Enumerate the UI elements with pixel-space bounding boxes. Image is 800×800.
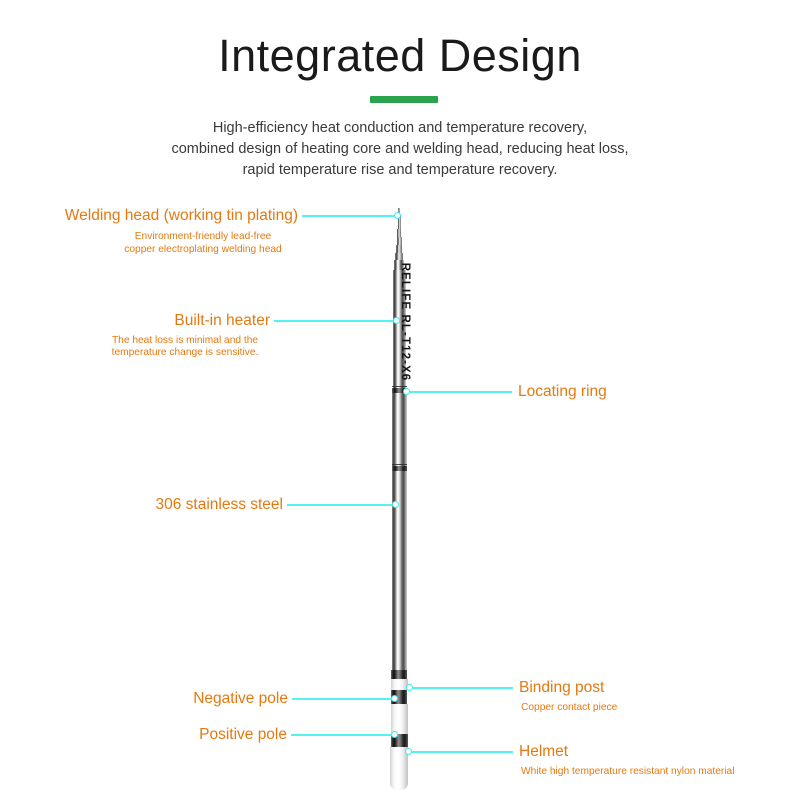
subtitle-line-2: combined design of heating core and weld… — [100, 139, 700, 160]
callout-negative-pole-label: Negative pole — [0, 690, 288, 707]
main-shaft — [392, 390, 407, 670]
subtitle-line-1: High-efficiency heat conduction and temp… — [100, 118, 700, 139]
callout-positive-pole-label: Positive pole — [0, 726, 287, 743]
page-title: Integrated Design — [0, 31, 800, 81]
nylon-spacer-upper — [391, 679, 408, 690]
leader-line-positive-pole — [291, 734, 396, 736]
callout-welding-head-sub-line-1: Environment-friendly lead-free — [96, 231, 310, 244]
leader-dot-welding-head — [394, 212, 401, 219]
page-subtitle: High-efficiency heat conduction and temp… — [100, 118, 700, 181]
leader-dot-built-in-heater — [393, 317, 400, 324]
leader-line-negative-pole — [292, 698, 396, 700]
leader-dot-helmet — [405, 748, 412, 755]
callout-stainless-steel-label: 306 stainless steel — [0, 496, 283, 513]
leader-line-locating-ring — [406, 391, 512, 393]
leader-dot-negative-pole — [391, 695, 398, 702]
leader-line-helmet — [410, 751, 513, 753]
callout-locating-ring-label: Locating ring — [518, 383, 607, 400]
locating-ring-lower-edge — [392, 464, 407, 465]
nylon-body-middle — [391, 704, 408, 734]
leader-line-built-in-heater — [274, 320, 396, 322]
subtitle-line-3: rapid temperature rise and temperature r… — [100, 160, 700, 181]
leader-dot-stainless-steel — [392, 501, 399, 508]
callout-binding-post-label: Binding post — [519, 679, 604, 696]
callout-helmet-label: Helmet — [519, 743, 568, 760]
binding-post-band — [391, 670, 407, 679]
soldering-iron-tip-illustration: RELIFE RL-T12-X6 — [370, 198, 430, 778]
leader-dot-locating-ring — [403, 388, 410, 395]
leader-line-welding-head — [302, 215, 396, 217]
leader-line-stainless-steel — [287, 504, 396, 506]
infographic-canvas: Integrated Design High-efficiency heat c… — [0, 0, 800, 800]
callout-binding-post-sub-line-1: Copper contact piece — [521, 702, 617, 715]
locating-ring-lower — [392, 466, 407, 471]
callout-built-in-heater-sub-line-1: The heat loss is minimal and the — [90, 335, 280, 348]
callout-built-in-heater-label: Built-in heater — [0, 312, 270, 329]
leader-dot-positive-pole — [391, 731, 398, 738]
callout-helmet-sub-line-1: White high temperature resistant nylon m… — [521, 766, 734, 779]
title-underline-accent — [370, 96, 438, 103]
callout-welding-head-sub-line-2: copper electroplating welding head — [96, 244, 310, 257]
callout-welding-head-label: Welding head (working tin plating) — [0, 207, 298, 224]
leader-dot-binding-post — [406, 684, 413, 691]
callout-built-in-heater-sub-line-2: temperature change is sensitive. — [90, 347, 280, 360]
leader-line-binding-post — [410, 687, 513, 689]
